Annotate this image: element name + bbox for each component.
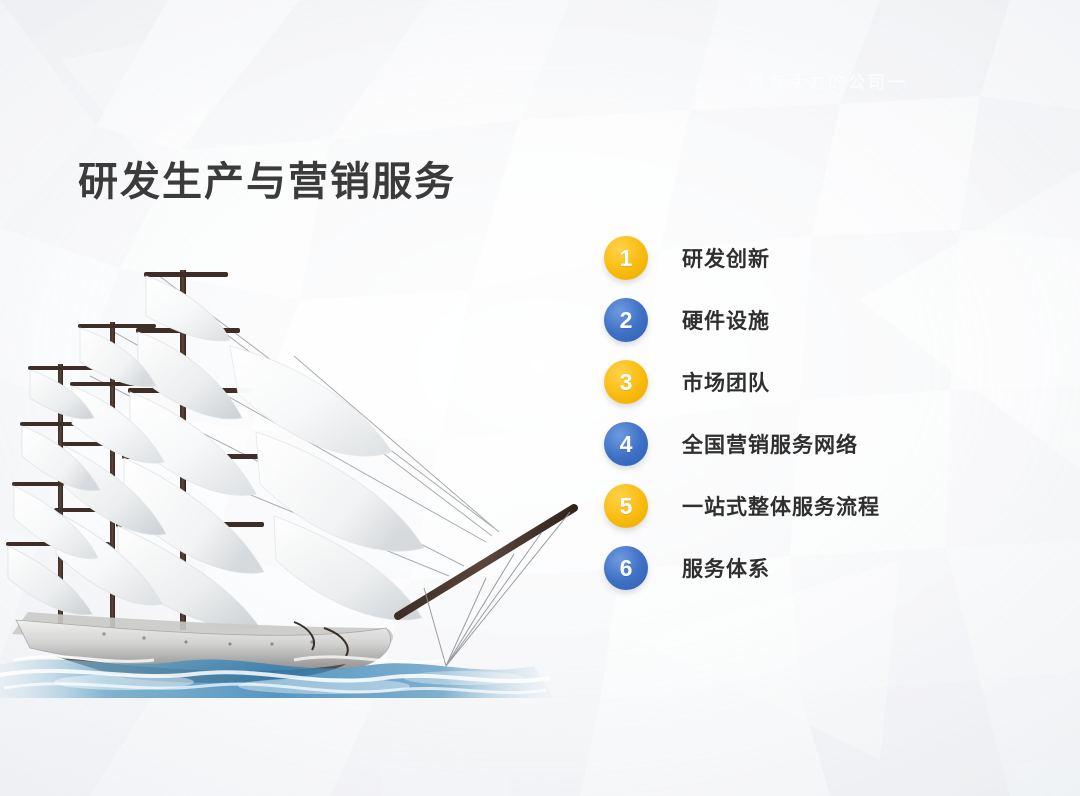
list-item-label: 全国营销服务网络 bbox=[682, 429, 858, 459]
list-item-label: 研发创新 bbox=[682, 243, 770, 273]
badge-number-2: 2 bbox=[604, 298, 648, 342]
slide-canvas: 最有活力的公司一 研发生产与营销服务 bbox=[0, 0, 1080, 796]
badge-number-1: 1 bbox=[604, 236, 648, 280]
badge-number-3: 3 bbox=[604, 360, 648, 404]
list-item-label: 市场团队 bbox=[682, 367, 770, 397]
list-item-label: 一站式整体服务流程 bbox=[682, 491, 880, 521]
feature-list: 1 研发创新 2 硬件设施 3 市场团队 4 全国营销服务网络 5 一站式整体服… bbox=[604, 236, 880, 590]
page-title: 研发生产与营销服务 bbox=[78, 149, 456, 207]
list-item-label: 服务体系 bbox=[682, 553, 770, 583]
list-item[interactable]: 5 一站式整体服务流程 bbox=[604, 484, 880, 528]
badge-number-4: 4 bbox=[604, 422, 648, 466]
list-item[interactable]: 1 研发创新 bbox=[604, 236, 880, 280]
list-item[interactable]: 3 市场团队 bbox=[604, 360, 880, 404]
badge-number-5: 5 bbox=[604, 484, 648, 528]
list-item[interactable]: 2 硬件设施 bbox=[604, 298, 880, 342]
list-item-label: 硬件设施 bbox=[682, 305, 770, 335]
sailing-ship-illustration bbox=[0, 236, 626, 698]
list-item[interactable]: 4 全国营销服务网络 bbox=[604, 422, 880, 466]
list-item[interactable]: 6 服务体系 bbox=[604, 546, 880, 590]
watermark-text: 最有活力的公司一 bbox=[748, 68, 908, 93]
ship-graphic bbox=[0, 236, 626, 698]
badge-number-6: 6 bbox=[604, 546, 648, 590]
